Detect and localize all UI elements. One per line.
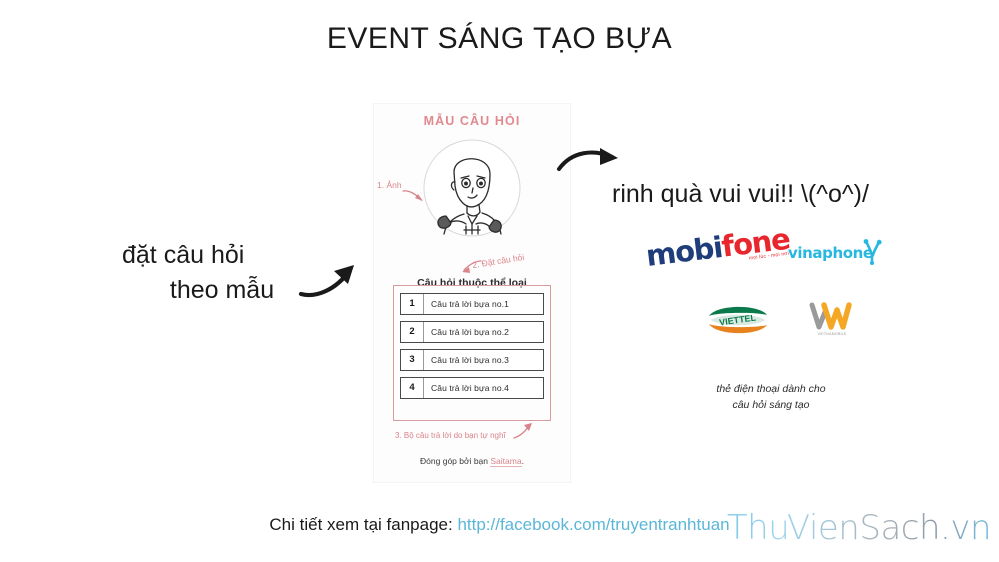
card-credit-suffix: . <box>522 456 524 466</box>
answer-number: 3 <box>401 350 424 370</box>
card-credit: Đóng góp bởi bạn Saitama. <box>374 456 570 466</box>
card-credit-prefix: Đóng góp bởi bạn <box>420 456 490 466</box>
vietnamobile-tagline: VIETNAMOBILE <box>808 332 856 336</box>
step-3-arrow-icon <box>512 422 534 445</box>
mobifone-logo-part1: mobi <box>644 230 724 273</box>
footer-label: Chi tiết xem tại fanpage: <box>269 515 457 534</box>
viettel-logo: VIETTEL <box>707 300 769 345</box>
vietnamobile-logo: VIETNAMOBILE <box>808 302 856 337</box>
watermark: ThuVienSach.vn <box>727 508 991 548</box>
vinaphone-logo: vinaphone <box>788 244 873 263</box>
sample-question-card: MẪU CÂU HỎI <box>374 104 570 482</box>
table-row[interactable]: 2 Câu trả lời bựa no.2 <box>400 321 544 343</box>
answer-text: Câu trả lời bựa no.4 <box>424 383 509 393</box>
right-caption: rinh quà vui vui!! \(^o^)/ <box>612 180 869 209</box>
answer-number: 1 <box>401 294 424 314</box>
answer-number: 2 <box>401 322 424 342</box>
curved-arrow-right-icon <box>298 258 368 309</box>
table-row[interactable]: 1 Câu trả lời bựa no.1 <box>400 293 544 315</box>
card-credit-name: Saitama <box>490 456 521 467</box>
page-title: EVENT SÁNG TẠO BỰA <box>0 22 999 56</box>
left-caption-line2: theo mẫu <box>122 273 322 308</box>
answer-number: 4 <box>401 378 424 398</box>
step-3-label: 3. Bộ câu trả lời do bạn tự nghĩ <box>395 431 506 440</box>
carrier-logos: mobifone mọi lúc - mọi nơi vinaphone VIE… <box>648 234 888 354</box>
step-1-label: 1. Ảnh <box>377 180 402 190</box>
answer-text: Câu trả lời bựa no.3 <box>424 355 509 365</box>
fanpage-link[interactable]: http://facebook.com/truyentranhtuan <box>457 515 729 534</box>
answers-box: 1 Câu trả lời bựa no.1 2 Câu trả lời bựa… <box>393 285 551 421</box>
vinaphone-symbol-icon <box>862 239 882 265</box>
left-caption-line1: đặt câu hỏi <box>122 238 322 273</box>
saitama-avatar <box>422 138 522 238</box>
logos-caption-line1: thẻ điện thoại dành cho <box>716 383 825 395</box>
left-caption: đặt câu hỏi theo mẫu <box>122 238 322 307</box>
table-row[interactable]: 3 Câu trả lời bựa no.3 <box>400 349 544 371</box>
logos-caption-line2: câu hỏi sáng tạo <box>732 399 809 411</box>
card-heading: MẪU CÂU HỎI <box>374 114 570 128</box>
mobifone-logo: mobifone mọi lúc - mọi nơi <box>648 242 792 271</box>
vinaphone-logo-text: vinaphone <box>788 244 873 262</box>
logos-caption: thẻ điện thoại dành cho câu hỏi sáng tạo <box>660 382 882 414</box>
step-1-arrow-icon <box>402 188 426 209</box>
answer-text: Câu trả lời bựa no.2 <box>424 327 509 337</box>
table-row[interactable]: 4 Câu trả lời bựa no.4 <box>400 377 544 399</box>
answer-text: Câu trả lời bựa no.1 <box>424 299 509 309</box>
